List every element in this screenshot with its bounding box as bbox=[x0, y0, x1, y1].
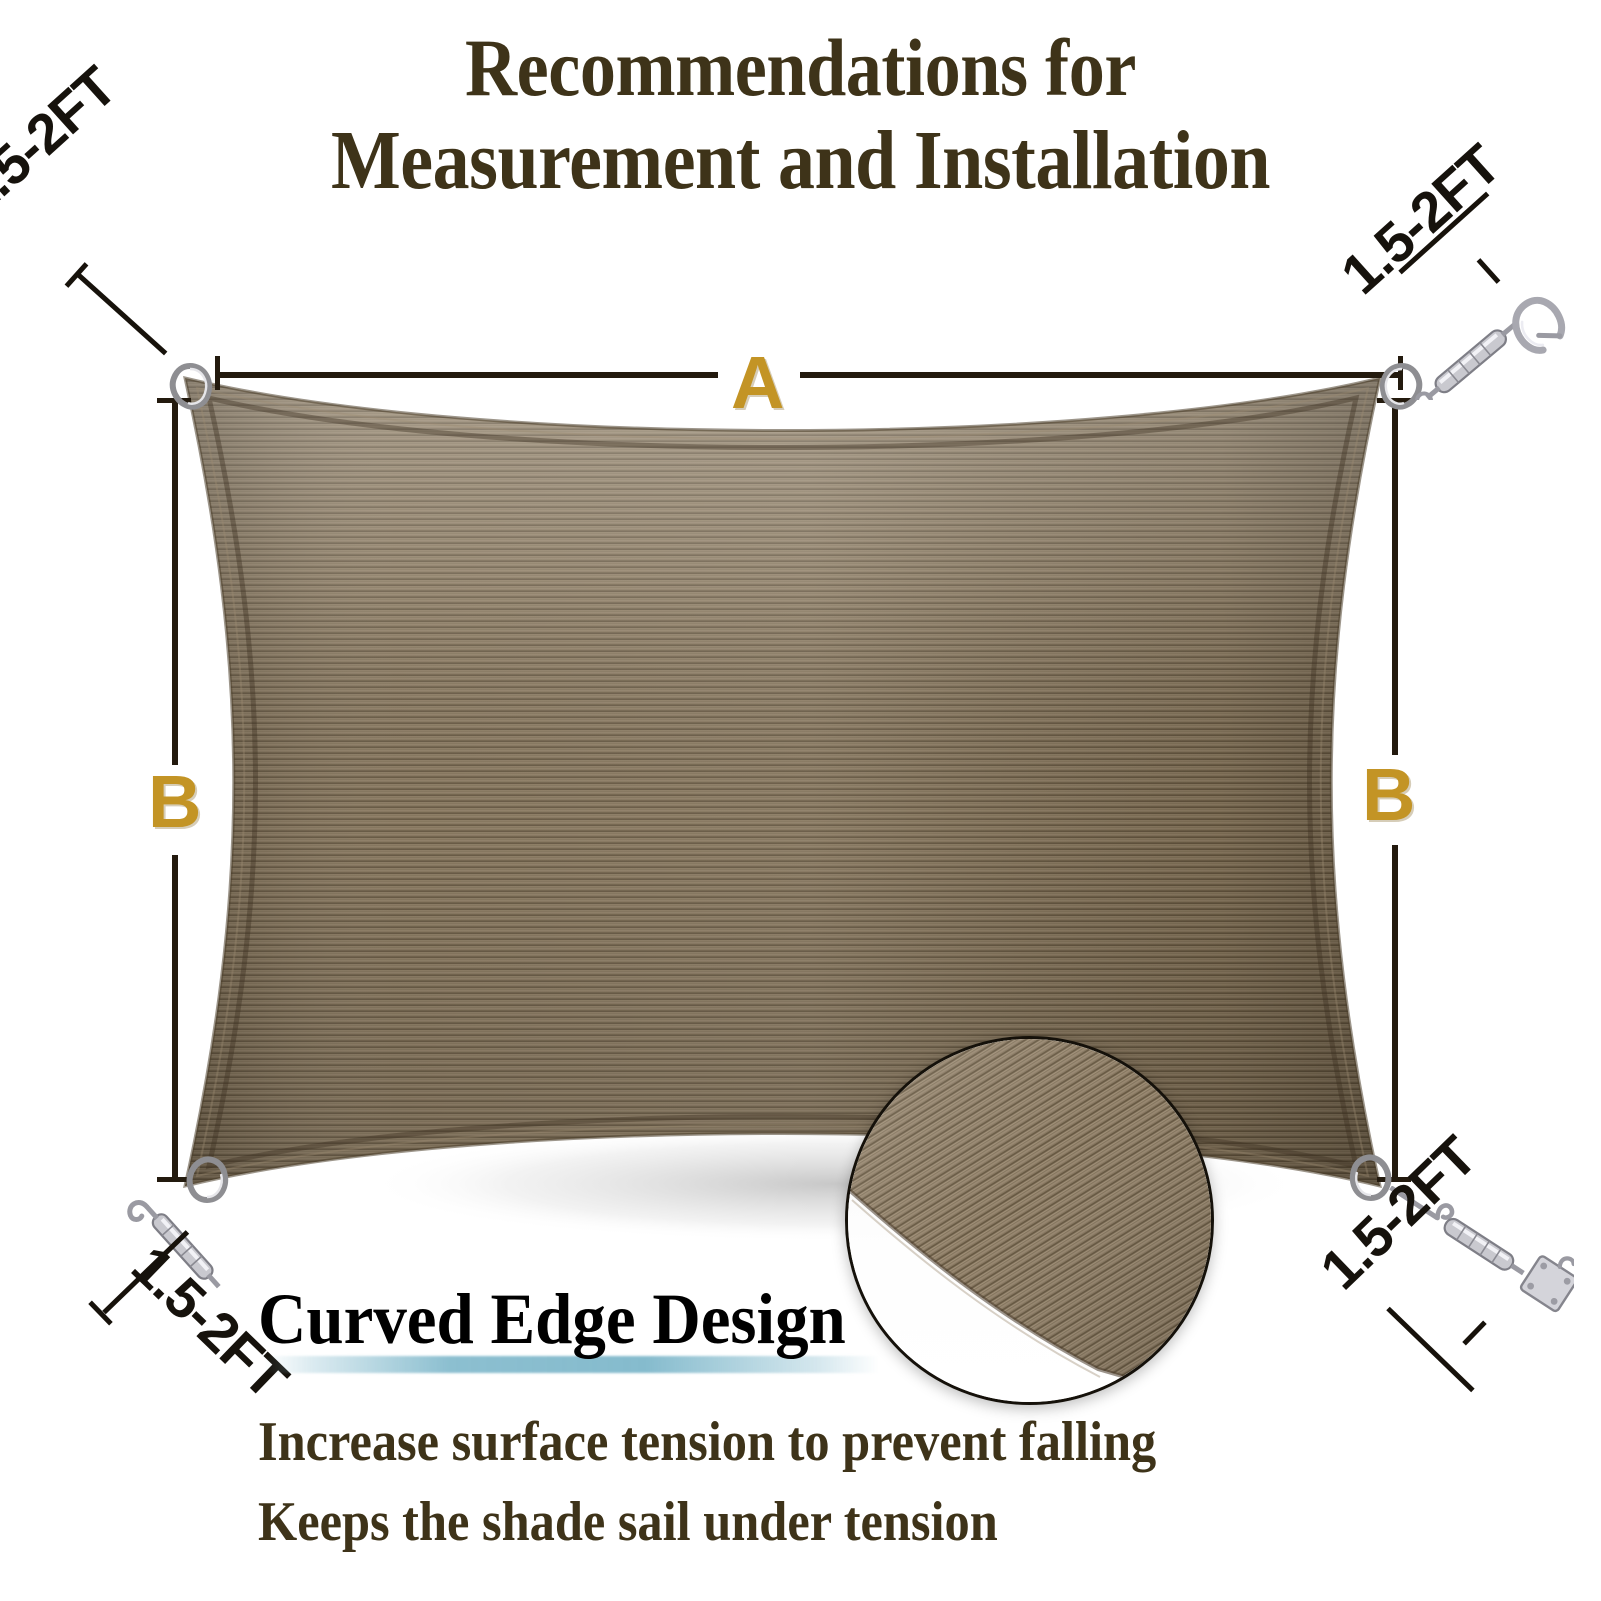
turnbuckle-icon-top-right bbox=[1402, 290, 1577, 400]
title-line-1: Recommendations for bbox=[96, 26, 1505, 110]
benefit-line-2: Keeps the shade sail under tension bbox=[258, 1494, 998, 1550]
caption-title: Curved Edge Design bbox=[258, 1283, 846, 1355]
benefit-line-1: Increase surface tension to prevent fall… bbox=[258, 1414, 1156, 1470]
callout-arrow-top-left bbox=[76, 273, 167, 356]
detail-inset-svg bbox=[848, 1039, 1211, 1402]
page-title: Recommendations for Measurement and Inst… bbox=[0, 26, 1601, 203]
dimension-line-b-left-lower bbox=[172, 855, 178, 1180]
dimension-line-a-left bbox=[218, 372, 718, 378]
dimension-line-b-right-upper bbox=[1392, 400, 1398, 755]
wall-mount-plate-icon bbox=[1520, 1245, 1574, 1313]
curved-edge-design-caption: Curved Edge Design bbox=[258, 1283, 898, 1393]
title-line-2: Measurement and Installation bbox=[96, 118, 1505, 204]
dimension-label-a: A bbox=[731, 346, 784, 420]
sail-svg bbox=[175, 372, 1390, 1192]
curved-edge-detail-inset bbox=[845, 1036, 1214, 1405]
d-ring-icon-top-left bbox=[160, 358, 220, 414]
dimension-label-b-right: B bbox=[1362, 758, 1415, 832]
callout-cap-top-right bbox=[1477, 258, 1501, 284]
shade-sail-illustration bbox=[175, 372, 1390, 1192]
dimension-label-b-left: B bbox=[148, 765, 201, 839]
dimension-line-b-left-upper bbox=[172, 400, 178, 765]
sail-fabric bbox=[175, 372, 1390, 1192]
carabiner-icon-top-right bbox=[1506, 292, 1570, 356]
infographic-canvas: Recommendations for Measurement and Inst… bbox=[0, 0, 1601, 1601]
hook-icon-bottom-left bbox=[126, 1199, 150, 1222]
dimension-line-b-right-lower bbox=[1392, 845, 1398, 1180]
dimension-line-a-right bbox=[800, 372, 1400, 378]
